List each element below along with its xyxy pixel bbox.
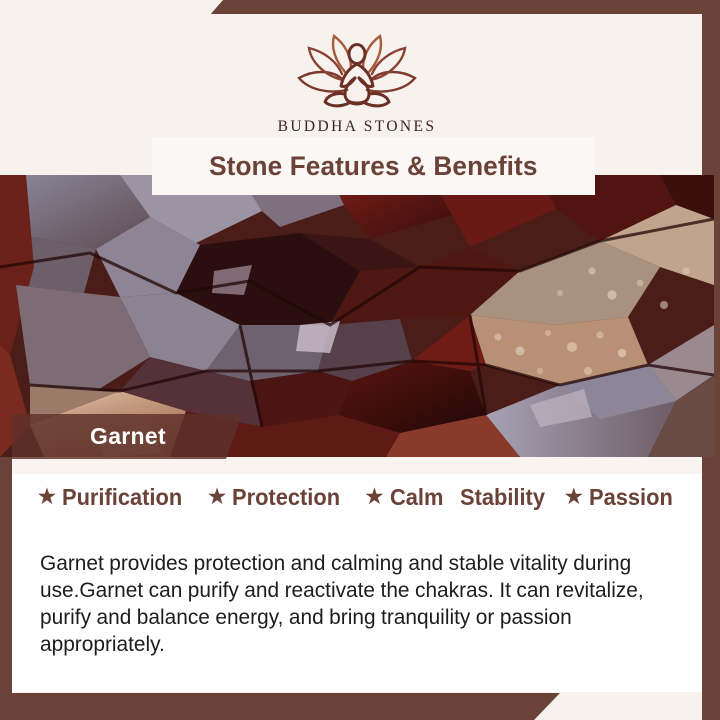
brand-name: BUDDHA STONES [12,118,702,136]
benefit-label: Purification [62,484,182,511]
frame-bottom-accent-bar [0,693,560,720]
star-icon: ★ [207,485,228,508]
benefit-label: Calm [390,484,443,511]
star-icon: ★ [564,485,585,508]
lotus-meditation-icon [279,28,435,114]
benefit-label: Stability [460,484,545,511]
frame-left-accent-bar [0,430,12,720]
benefit-item-purification: ★ Purification [37,484,189,511]
page-title: Stone Features & Benefits [209,151,537,182]
benefit-label: Passion [589,484,673,511]
content-panel: ★ Purification ★ Protection ★ Calm Stabi… [12,474,702,692]
benefits-list: ★ Purification ★ Protection ★ Calm Stabi… [12,484,702,511]
benefit-item-stability: Stability [460,484,549,511]
section-title-band: Stone Features & Benefits [152,137,595,195]
stone-name-bar: Garnet [12,414,242,459]
card-body: BUDDHA STONES Stone Features & Benefits [12,14,702,692]
benefit-item-protection: ★ Protection [207,484,346,511]
brand-logo: BUDDHA STONES [12,28,702,136]
star-icon: ★ [364,485,385,508]
benefit-item-passion: ★ Passion [564,484,678,511]
stone-description: Garnet provides protection and calming a… [40,550,669,658]
benefit-label: Protection [232,484,340,511]
divider-strip [12,457,702,474]
stone-name: Garnet [90,423,166,450]
benefit-item-calm: ★ Calm [364,484,446,511]
stone-features-infographic: BUDDHA STONES Stone Features & Benefits [0,0,720,720]
star-icon: ★ [37,485,58,508]
